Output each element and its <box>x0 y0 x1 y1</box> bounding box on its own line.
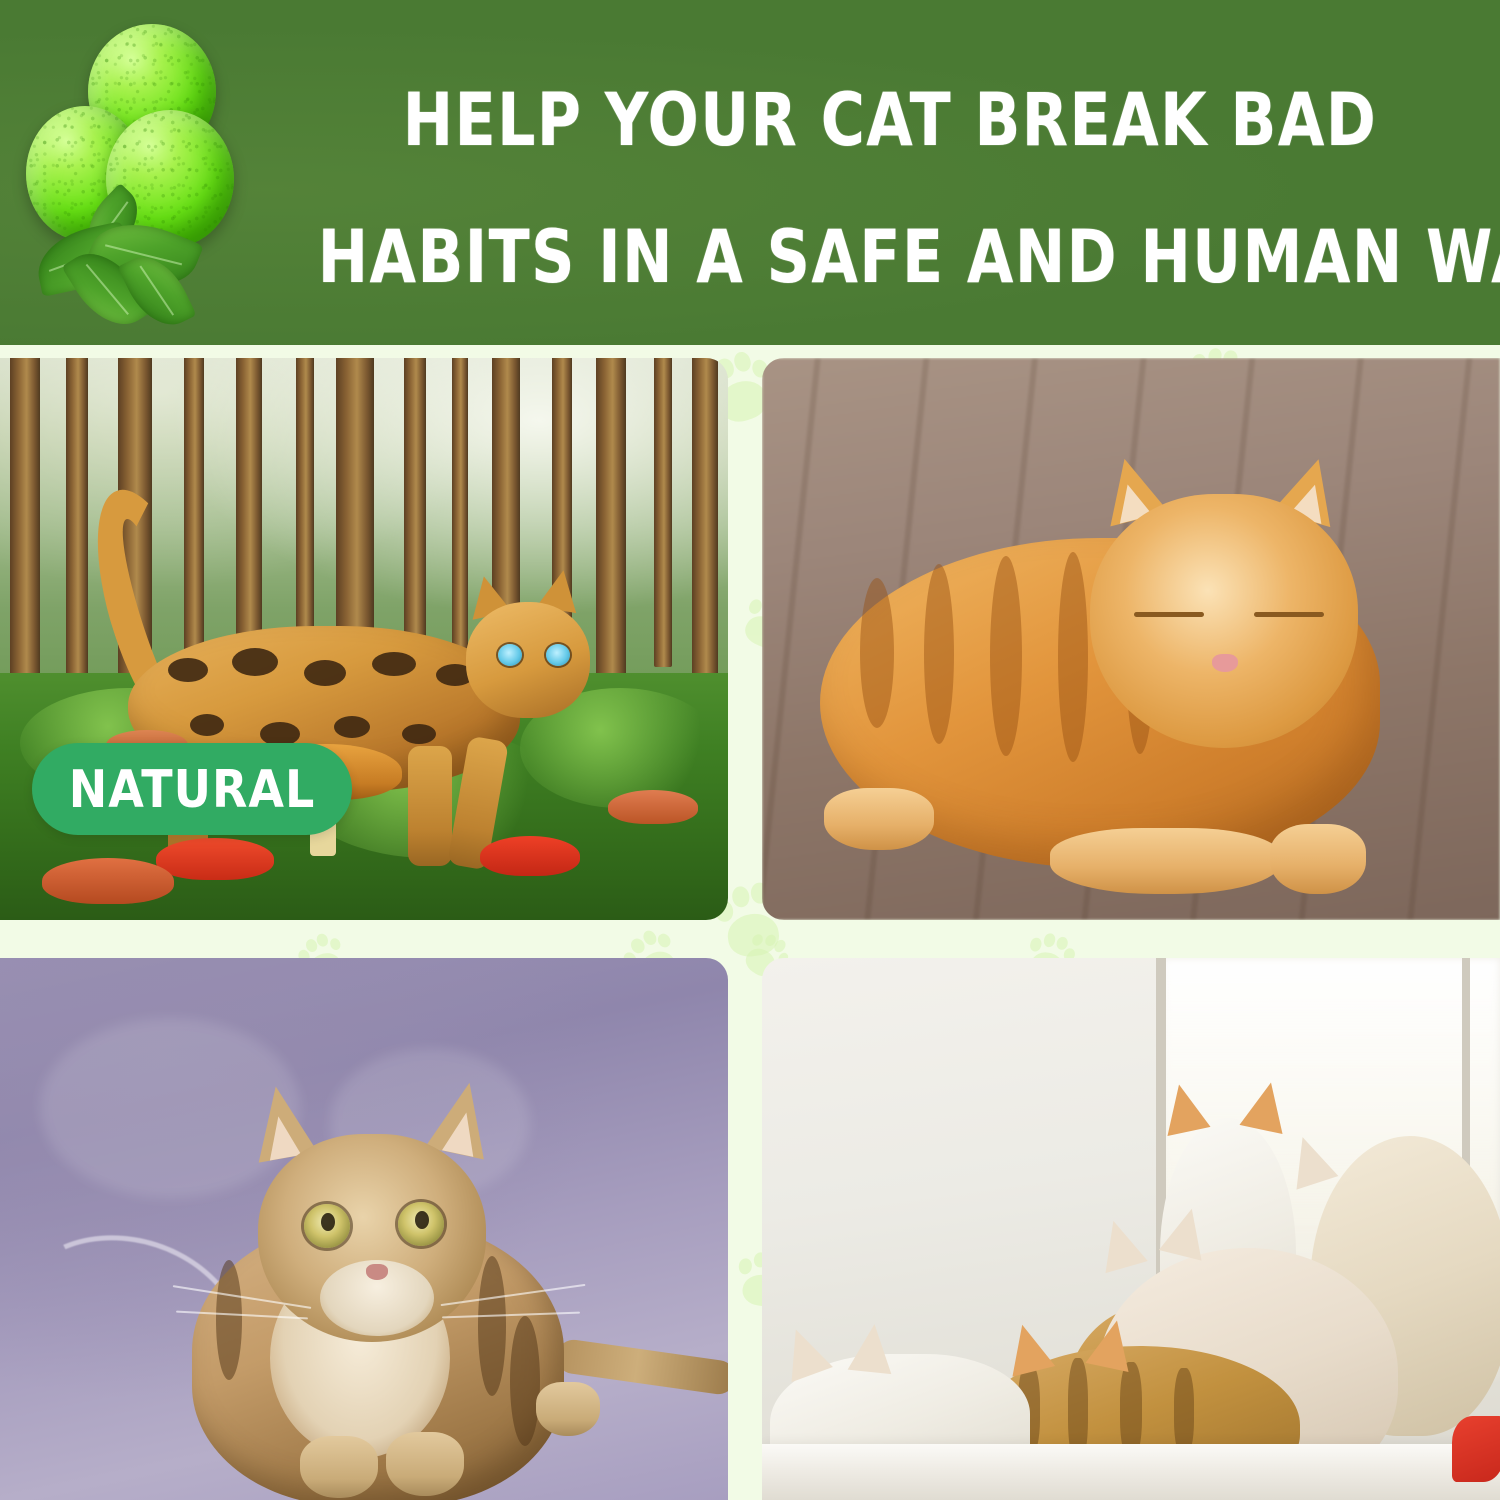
panel-photo-effective: EFFECTIVE <box>0 958 728 1500</box>
ginger-cat-head <box>1090 494 1358 748</box>
paw-toe <box>656 931 673 949</box>
bengal-rosette <box>190 714 224 736</box>
ginger-cat-stripe <box>860 578 894 728</box>
panel-photo-safe: SAFE <box>762 358 1500 920</box>
red-cat-toy <box>1452 1416 1500 1482</box>
tree-trunk <box>654 358 672 667</box>
mushroom-cap <box>480 836 580 876</box>
kitten-eye <box>304 1204 350 1248</box>
ginger-cat-eye-closed <box>1254 612 1324 617</box>
tabby-stripe <box>1174 1368 1194 1456</box>
paw-toe <box>1042 932 1057 948</box>
infographic-page: HELP YOUR CAT BREAK BAD HABITS IN A SAFE… <box>0 0 1500 1500</box>
bengal-cat-eye <box>498 644 522 666</box>
mushroom-cap <box>608 790 698 824</box>
mushroom-cap <box>156 838 274 880</box>
windowsill <box>762 1444 1500 1500</box>
mushroom-cap <box>42 858 174 904</box>
bengal-rosette <box>304 660 346 686</box>
paw-toe <box>328 937 342 952</box>
ginger-cat-nose <box>1212 654 1238 672</box>
bengal-cat-eye <box>546 644 570 666</box>
tree-trunk <box>452 358 468 656</box>
bengal-cat-leg <box>408 746 452 866</box>
tree-trunk <box>692 358 718 684</box>
kitten-paw <box>386 1432 464 1496</box>
paw-toe <box>315 932 330 948</box>
bengal-rosette <box>334 716 370 738</box>
ginger-cat-paw <box>1270 824 1366 894</box>
headline-line-1: HELP YOUR CAT BREAK BAD <box>318 52 1463 189</box>
bengal-rosette <box>232 648 278 676</box>
scene-wood-floor <box>762 358 1500 920</box>
bengal-rosette <box>402 724 436 744</box>
kitten-stripe <box>510 1316 540 1446</box>
tree-trunk <box>296 358 314 661</box>
bengal-rosette <box>372 652 416 676</box>
cat-ear <box>848 1322 897 1374</box>
scene-pine-forest <box>0 358 728 920</box>
badge-natural-label: NATURAL <box>69 759 316 819</box>
headline: HELP YOUR CAT BREAK BAD HABITS IN A SAFE… <box>318 52 1463 326</box>
kitten-stripe <box>216 1260 242 1380</box>
kitten-nose <box>366 1264 388 1280</box>
product-image-catnip-balls <box>18 18 288 333</box>
header-band: HELP YOUR CAT BREAK BAD HABITS IN A SAFE… <box>0 0 1500 345</box>
paw-toe <box>731 886 751 909</box>
ginger-cat-stripe <box>924 564 954 744</box>
ginger-cat-paw <box>824 788 934 850</box>
kitten-stripe <box>478 1256 506 1396</box>
kitten-eye <box>398 1202 444 1246</box>
scene-lavender-bed <box>0 958 728 1500</box>
tree-trunk <box>10 358 40 718</box>
headline-line-2: HABITS IN A SAFE AND HUMAN WAY <box>318 189 1463 326</box>
kitten-paw <box>536 1382 600 1436</box>
tree-trunk <box>596 358 626 701</box>
badge-natural[interactable]: NATURAL <box>32 743 352 835</box>
paw-toe <box>732 350 753 373</box>
ginger-cat-stripe <box>1058 552 1088 762</box>
scene-white-windowsill <box>762 958 1500 1500</box>
kitten-paw <box>300 1436 378 1498</box>
ginger-cat-stripe <box>990 556 1022 756</box>
paw-toe <box>1028 936 1043 952</box>
tree-trunk <box>66 358 88 684</box>
ginger-cat-paw <box>1050 828 1280 894</box>
bengal-cat-head <box>466 602 590 718</box>
paw-toe <box>738 1258 753 1276</box>
bengal-rosette <box>168 658 208 682</box>
ginger-cat-eye-closed <box>1134 612 1204 617</box>
panel-photo-trusted: TRUSTED <box>762 958 1500 1500</box>
panel-photo-natural: NATURAL <box>0 358 728 920</box>
